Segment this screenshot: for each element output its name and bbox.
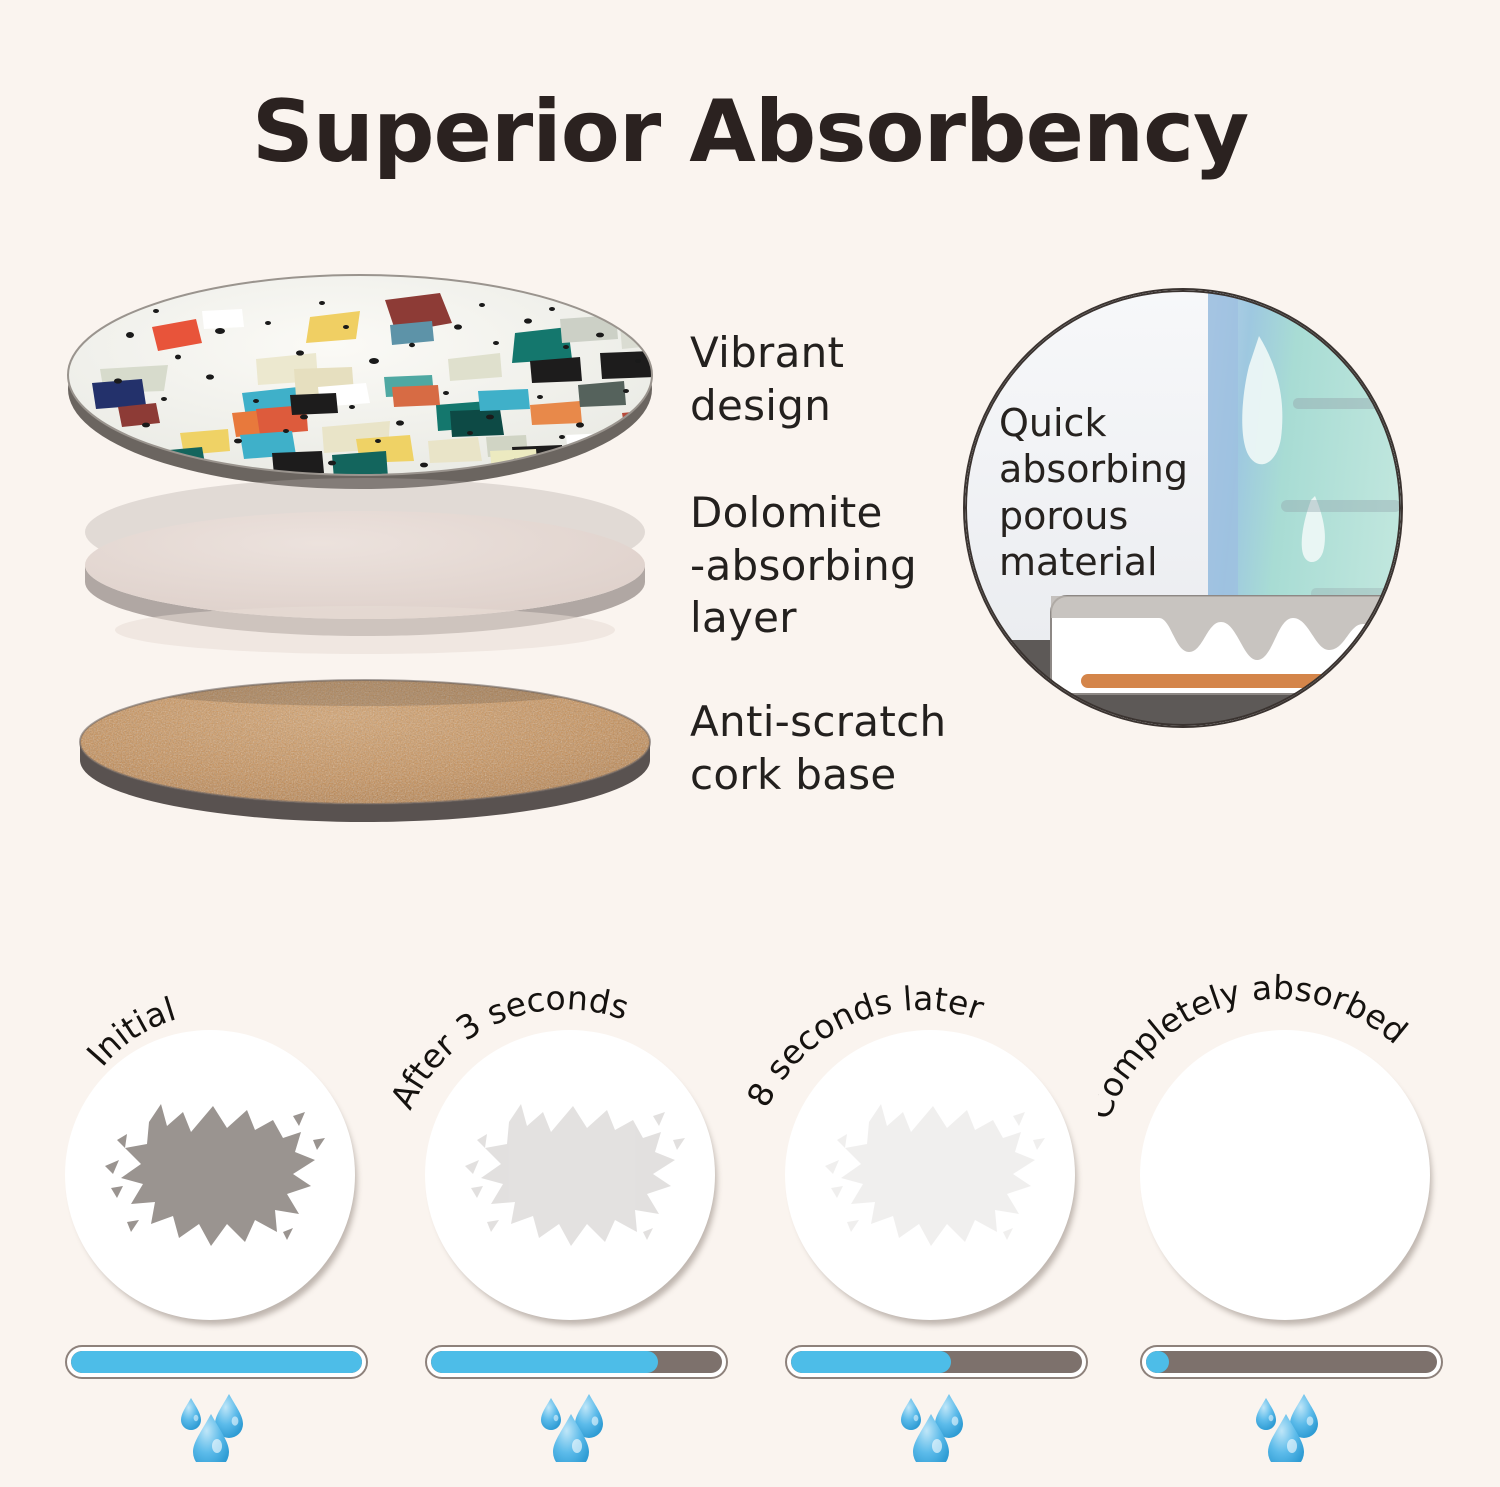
absorption-step-1: After 3 seconds (425, 1000, 725, 1480)
porous-material-inset: Quick absorbing porous material (963, 288, 1403, 728)
page-title: Superior Absorbency (0, 82, 1500, 182)
water-droplets-3 (1238, 1392, 1348, 1462)
dolomite-middle-layer (60, 470, 680, 670)
water-stain-1 (447, 1082, 697, 1272)
absorption-step-0: Initial (65, 1000, 365, 1480)
feature-label-vibrant-design: Vibrant design (690, 327, 844, 432)
coaster-surface-2 (785, 1030, 1075, 1320)
water-droplets-2 (883, 1392, 993, 1462)
coaster-surface-0 (65, 1030, 355, 1320)
progress-track-2 (791, 1351, 1082, 1373)
progress-track-3 (1146, 1351, 1437, 1373)
exploded-coaster-stack (60, 265, 680, 865)
progress-fill-1 (431, 1351, 658, 1373)
progress-fill-3 (1146, 1351, 1169, 1373)
water-droplets-1 (523, 1392, 633, 1462)
feature-label-dolomite-absorbing-layer: Dolomite -absorbing layer (690, 487, 917, 645)
progress-bar-3 (1140, 1345, 1443, 1379)
progress-track-0 (71, 1351, 362, 1373)
water-stain-2 (807, 1082, 1057, 1272)
progress-fill-0 (71, 1351, 362, 1373)
progress-track-1 (431, 1351, 722, 1373)
inset-caption: Quick absorbing porous material (999, 400, 1188, 585)
water-stain-3 (1162, 1082, 1412, 1272)
feature-label-anti-scratch-cork-base: Anti-scratch cork base (690, 696, 946, 801)
terrazzo-top-layer (60, 265, 680, 495)
infographic-canvas: Superior Absorbency (0, 0, 1500, 1487)
cork-base-layer (60, 650, 680, 850)
water-stain-0 (87, 1082, 337, 1272)
coaster-surface-3 (1140, 1030, 1430, 1320)
progress-fill-2 (791, 1351, 951, 1373)
absorption-step-2: 8 seconds later (785, 1000, 1085, 1480)
coaster-surface-1 (425, 1030, 715, 1320)
progress-bar-0 (65, 1345, 368, 1379)
progress-bar-1 (425, 1345, 728, 1379)
water-droplets-0 (163, 1392, 273, 1462)
progress-bar-2 (785, 1345, 1088, 1379)
absorption-step-3: Completely absorbed (1140, 1000, 1440, 1480)
